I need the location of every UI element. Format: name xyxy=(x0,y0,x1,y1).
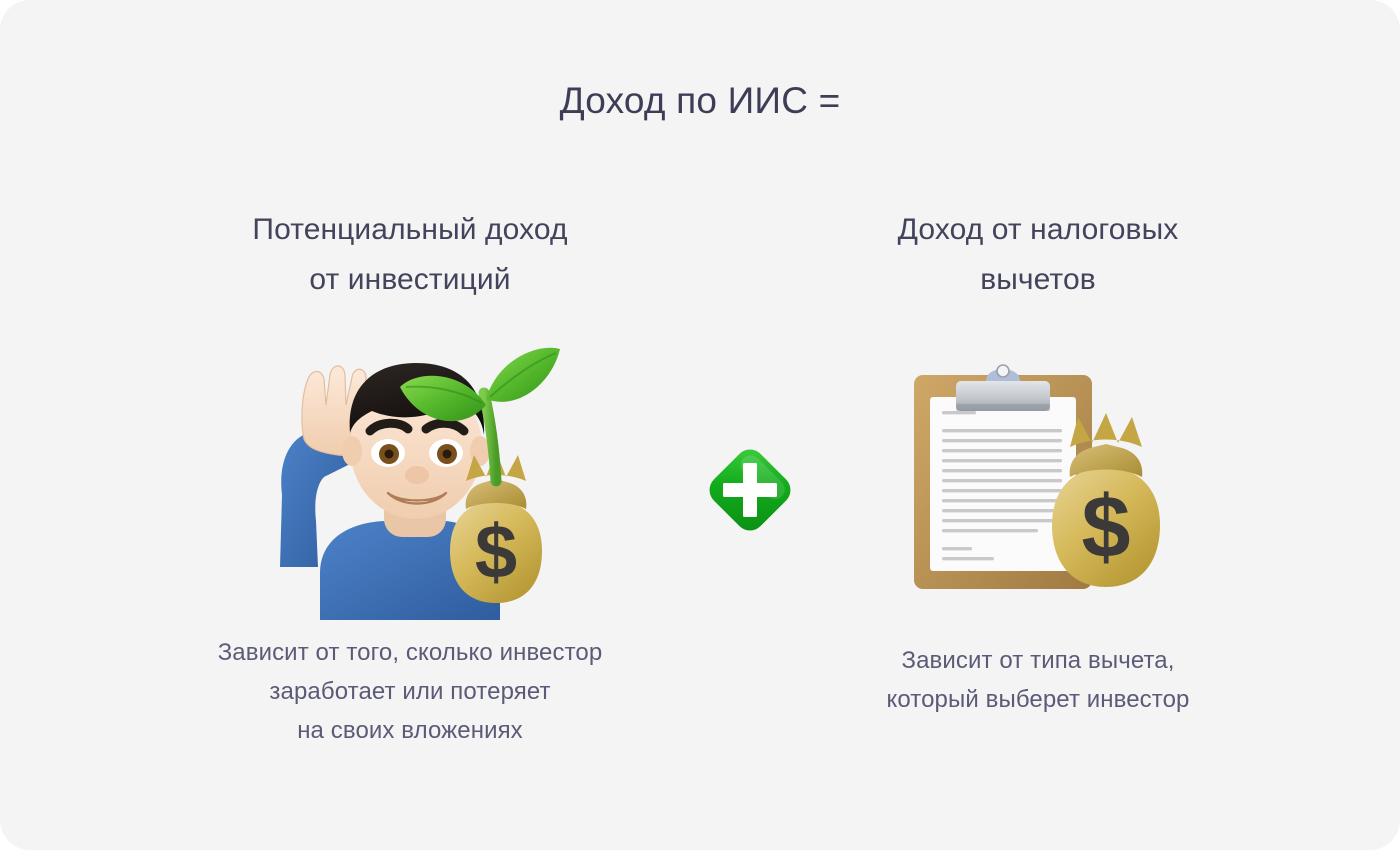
column-heading-tax-deduction-income: Доход от налоговых вычетов xyxy=(758,205,1318,305)
page-title: Доход по ИИС = xyxy=(0,78,1400,124)
column-caption-investment-income: Зависит от того, сколько инвестор зарабо… xyxy=(130,633,690,750)
column-caption-tax-deduction-income: Зависит от типа вычета, который выберет … xyxy=(758,641,1318,719)
column-heading-investment-income: Потенциальный доход от инвестиций xyxy=(130,205,690,305)
seedling-stem xyxy=(484,393,496,481)
pupil-left xyxy=(385,449,394,458)
illustration-man-raising-hand-with-money-bag: $ xyxy=(130,327,690,627)
ear-left xyxy=(342,436,362,466)
dollar-sign: $ xyxy=(1082,477,1131,576)
column-tax-deduction-income: Доход от налоговых вычетов xyxy=(758,205,1318,719)
dollar-sign: $ xyxy=(475,510,517,595)
column-investment-income: Потенциальный доход от инвестиций xyxy=(130,205,690,750)
man-money-seedling-svg: $ xyxy=(260,335,560,620)
illustration-clipboard-with-money-bag: $ xyxy=(758,329,1318,629)
nose xyxy=(405,466,429,484)
infographic-canvas: Доход по ИИС = Потенциальный доход от ин… xyxy=(0,0,1400,850)
pupil-right xyxy=(443,449,452,458)
clipboard-money-svg: $ xyxy=(898,349,1178,609)
clipboard-clip-hole xyxy=(997,365,1009,377)
clipboard-clip-shadow xyxy=(956,404,1050,411)
